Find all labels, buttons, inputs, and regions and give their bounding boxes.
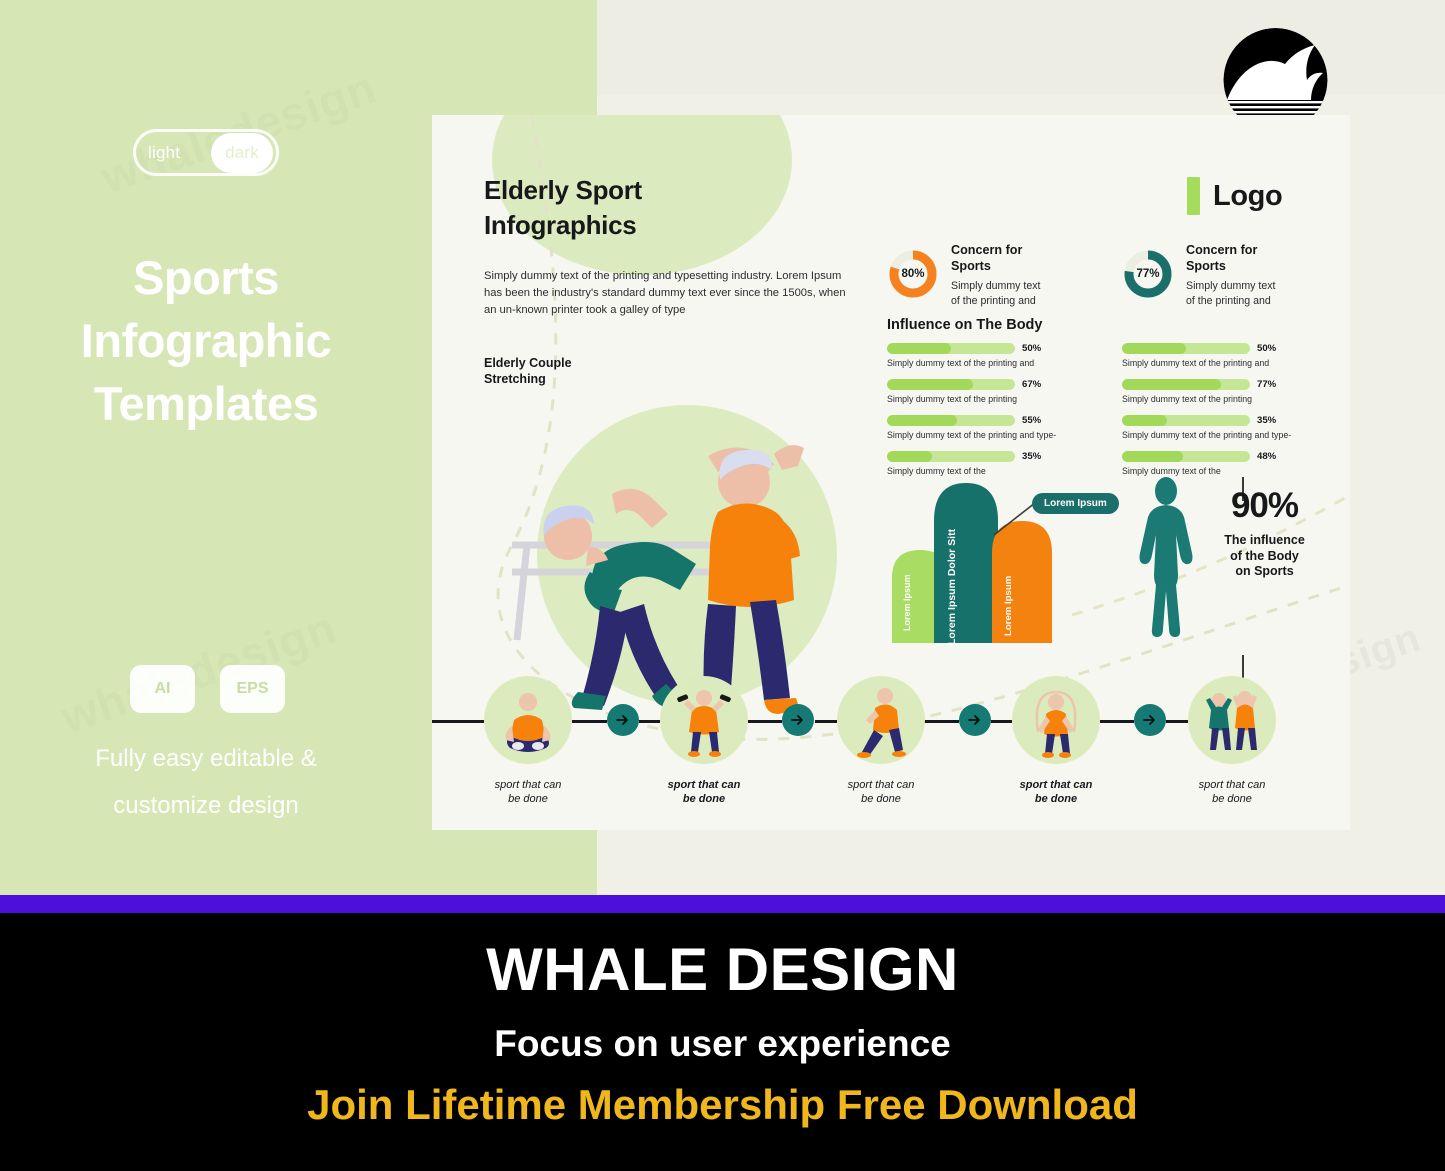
logo-accent-bar — [1187, 177, 1200, 215]
progress-bar-value: 35% — [1022, 451, 1041, 462]
format-badges: AI EPS — [130, 665, 290, 715]
mountain-label: Lorem Ipsum — [902, 574, 912, 631]
progress-bar-caption: Simply dummy text of the printing and ty… — [887, 429, 1115, 441]
timeline-caption-line: sport that can — [644, 778, 764, 792]
sports-timeline: sport that canbe donesport that canbe do… — [432, 660, 1350, 820]
timeline-connector — [432, 720, 484, 723]
progress-bar-track — [1122, 379, 1250, 390]
donut-text-block: Concern for Sports Simply dummy text of … — [1186, 240, 1275, 309]
body-influence-stat: 90% The influence of the Body on Sports — [1202, 485, 1327, 580]
timeline-node[interactable] — [660, 676, 748, 764]
timeline-arrow-icon — [959, 704, 991, 736]
progress-bar-value: 35% — [1257, 415, 1276, 426]
jump-rope-icon — [1012, 751, 1100, 764]
progress-bar-fill — [1122, 379, 1221, 390]
poster-canvas: whaledesign whaledesign whaledesign whal… — [0, 0, 1445, 1171]
timeline-caption-line: sport that can — [821, 778, 941, 792]
progress-bar-track — [887, 451, 1015, 462]
timeline-caption: sport that canbe done — [1172, 778, 1292, 806]
donut-heading: Concern for Sports — [951, 242, 1040, 274]
card-title: Elderly Sport Infographics — [484, 173, 814, 243]
progress-bar-caption: Simply dummy text of the printing and — [1122, 357, 1350, 369]
progress-bar-caption: Simply dummy text of the printing — [1122, 393, 1350, 405]
mountain-label: Lorem Ipsum Dolor Sitt — [946, 529, 958, 645]
promo-title-line: Sports — [0, 246, 412, 309]
progress-bar-item: 50%Simply dummy text of the printing and — [1122, 343, 1350, 369]
donut-text: Simply dummy text of the printing and — [1186, 279, 1275, 309]
progress-bar-value: 48% — [1257, 451, 1276, 462]
progress-bar-item: 50%Simply dummy text of the printing and — [887, 343, 1115, 369]
timeline-node[interactable] — [1188, 676, 1276, 764]
stat-value: 90% — [1202, 485, 1327, 527]
human-body-silhouette-icon — [1126, 475, 1206, 650]
donut-text-line: of the printing and — [951, 294, 1040, 309]
ai-format-badge: AI — [130, 665, 195, 713]
progress-bar-track — [887, 415, 1015, 426]
eps-format-badge: EPS — [220, 665, 285, 713]
progress-bar-item: 48%Simply dummy text of the — [1122, 451, 1350, 477]
progress-bar-value: 50% — [1257, 343, 1276, 354]
progress-bar-value: 50% — [1022, 343, 1041, 354]
card-title-line: Infographics — [484, 208, 814, 243]
promo-subtitle: Fully easy editable & customize design — [0, 735, 412, 829]
timeline-connector — [748, 720, 782, 723]
timeline-caption-line: be done — [1172, 792, 1292, 806]
timeline-caption: sport that canbe done — [468, 778, 588, 806]
donut-card: 77% Concern for Sports Simply dummy text… — [1122, 240, 1350, 309]
progress-bar-caption: Simply dummy text of the printing and — [887, 357, 1115, 369]
walking-icon — [837, 751, 925, 764]
progress-bar-track — [1122, 415, 1250, 426]
timeline-caption: sport that canbe done — [644, 778, 764, 806]
timeline-caption-line: be done — [644, 792, 764, 806]
footer-cta: Join Lifetime Membership Free Download — [0, 1081, 1445, 1129]
donut-text-line: Simply dummy text — [1186, 279, 1275, 294]
progress-bar-fill — [887, 379, 973, 390]
couple-exercise-icon — [1188, 751, 1276, 764]
timeline-caption-line: be done — [821, 792, 941, 806]
promo-subtitle-line: customize design — [0, 782, 412, 829]
progress-bars-right: 50%Simply dummy text of the printing and… — [1122, 343, 1350, 487]
progress-bar-track — [887, 379, 1015, 390]
timeline-caption-line: be done — [468, 792, 588, 806]
donut-card: 80% Concern for Sports Simply dummy text… — [887, 240, 1117, 309]
footer-banner: WHALE DESIGN Focus on user experience Jo… — [0, 913, 1445, 1171]
stat-caption-line: of the Body — [1202, 549, 1327, 565]
footer-brand: WHALE DESIGN — [0, 935, 1445, 1004]
progress-bar-fill — [1122, 451, 1183, 462]
timeline-caption: sport that canbe done — [821, 778, 941, 806]
mountain-callout-tag: Lorem Ipsum — [1032, 493, 1119, 514]
progress-bar-track — [887, 343, 1015, 354]
promo-title-line: Templates — [0, 372, 412, 435]
progress-bar-fill — [1122, 415, 1167, 426]
progress-bar-caption: Simply dummy text of the printing and ty… — [1122, 429, 1350, 441]
timeline-connector — [924, 720, 959, 723]
card-title-line: Elderly Sport — [484, 173, 814, 208]
toggle-option-light[interactable]: light — [139, 133, 189, 173]
promo-title: Sports Infographic Templates — [0, 246, 412, 435]
light-dark-toggle[interactable]: light dark — [133, 129, 279, 176]
donut-text: Simply dummy text of the printing and — [951, 279, 1040, 309]
logo-placeholder-label: Logo — [1213, 180, 1282, 213]
stat-caption-line: on Sports — [1202, 564, 1327, 580]
donut-heading-line: Sports — [951, 258, 1040, 274]
timeline-caption-line: sport that can — [468, 778, 588, 792]
progress-bar-item: 67%Simply dummy text of the printing — [887, 379, 1115, 405]
progress-bar-caption: Simply dummy text of the printing — [887, 393, 1115, 405]
progress-bar-value: 67% — [1022, 379, 1041, 390]
bars-section-title: Influence on The Body — [887, 317, 1042, 333]
timeline-connector — [572, 720, 607, 723]
donut-heading: Concern for Sports — [1186, 242, 1275, 274]
timeline-connector — [1100, 720, 1134, 723]
progress-bar-fill — [1122, 343, 1186, 354]
timeline-caption-line: be done — [996, 792, 1116, 806]
progress-bar-value: 55% — [1022, 415, 1041, 426]
yoga-sitting-icon — [484, 751, 572, 764]
purple-divider-strip — [0, 895, 1445, 913]
progress-bar-item: 55%Simply dummy text of the printing and… — [887, 415, 1115, 441]
progress-bar-fill — [887, 415, 957, 426]
progress-bar-item: 77%Simply dummy text of the printing — [1122, 379, 1350, 405]
progress-bar-fill — [887, 451, 932, 462]
promo-title-line: Infographic — [0, 309, 412, 372]
infographic-card: Elderly Sport Infographics Simply dummy … — [432, 115, 1350, 830]
timeline-arrow-icon — [607, 704, 639, 736]
donut-chart: 80% — [887, 248, 939, 300]
donut-heading-line: Sports — [1186, 258, 1275, 274]
mountain-label: Lorem Ipsum — [1003, 576, 1014, 636]
promo-subtitle-line: Fully easy editable & — [0, 735, 412, 782]
donut-value: 77% — [1122, 248, 1174, 300]
stat-caption-line: The influence — [1202, 533, 1327, 549]
timeline-connector — [991, 720, 1012, 723]
donut-value: 80% — [887, 248, 939, 300]
donut-heading-line: Concern for — [951, 242, 1040, 258]
timeline-arrow-icon — [782, 704, 814, 736]
donut-chart: 77% — [1122, 248, 1174, 300]
timeline-caption: sport that canbe done — [996, 778, 1116, 806]
timeline-connector — [639, 720, 660, 723]
donut-text-line: Simply dummy text — [951, 279, 1040, 294]
donut-text-block: Concern for Sports Simply dummy text of … — [951, 240, 1040, 309]
timeline-node[interactable] — [1012, 676, 1100, 764]
toggle-option-dark[interactable]: dark — [211, 133, 273, 173]
progress-bar-track — [1122, 343, 1250, 354]
timeline-caption-line: sport that can — [1172, 778, 1292, 792]
timeline-caption-line: sport that can — [996, 778, 1116, 792]
card-description: Simply dummy text of the printing and ty… — [484, 268, 846, 319]
progress-bar-fill — [887, 343, 951, 354]
progress-bar-item: 35%Simply dummy text of the printing and… — [1122, 415, 1350, 441]
timeline-node[interactable] — [484, 676, 572, 764]
card-logo-block: Logo — [1187, 177, 1282, 215]
donut-text-line: of the printing and — [1186, 294, 1275, 309]
timeline-connector — [1166, 720, 1188, 723]
timeline-connector — [815, 720, 837, 723]
progress-bar-value: 77% — [1257, 379, 1276, 390]
donut-heading-line: Concern for — [1186, 242, 1275, 258]
timeline-arrow-icon — [1134, 704, 1166, 736]
progress-bars-left: 50%Simply dummy text of the printing and… — [887, 343, 1115, 487]
footer-tagline: Focus on user experience — [0, 1023, 1445, 1065]
stat-caption: The influence of the Body on Sports — [1202, 533, 1327, 580]
progress-bar-track — [1122, 451, 1250, 462]
dumbbell-lifting-icon — [660, 751, 748, 764]
timeline-node[interactable] — [837, 676, 925, 764]
